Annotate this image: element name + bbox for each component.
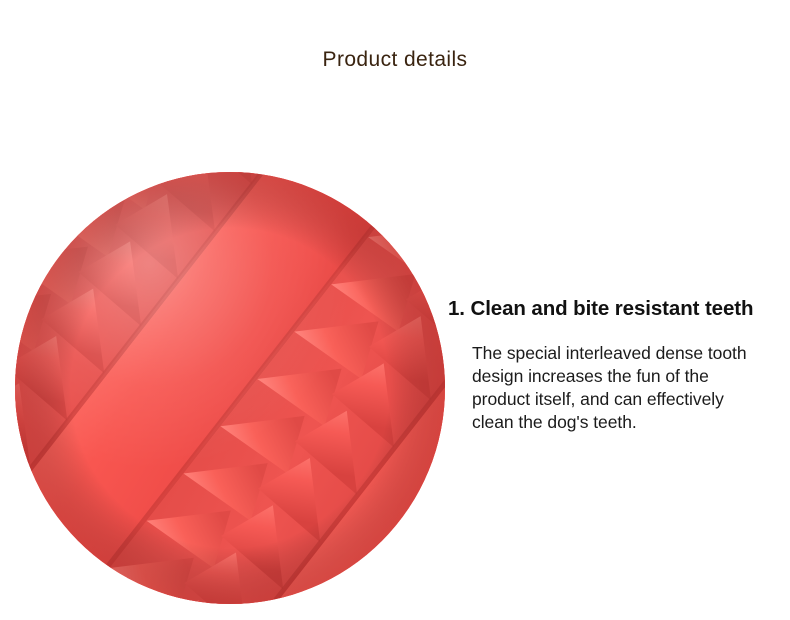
ball-body <box>14 171 446 606</box>
feature-description-line: product itself, and can effectively <box>472 388 790 411</box>
header-banner: Product details <box>0 0 790 154</box>
product-details-page: Product details <box>0 0 790 620</box>
feature-heading: 1. Clean and bite resistant teeth <box>448 296 790 322</box>
feature-description-line: The special interleaved dense tooth <box>472 342 790 365</box>
feature-description-line: clean the dog's teeth. <box>472 411 790 434</box>
feature-description-line: design increases the fun of the <box>472 365 790 388</box>
product-image <box>14 171 446 606</box>
dog-chew-ball-illustration <box>14 171 446 606</box>
page-title: Product details <box>0 47 790 72</box>
scalloped-wave-shape <box>0 0 790 154</box>
feature-block: 1. Clean and bite resistant teeth The sp… <box>448 296 790 435</box>
feature-description: The special interleaved dense tooth desi… <box>448 322 790 435</box>
